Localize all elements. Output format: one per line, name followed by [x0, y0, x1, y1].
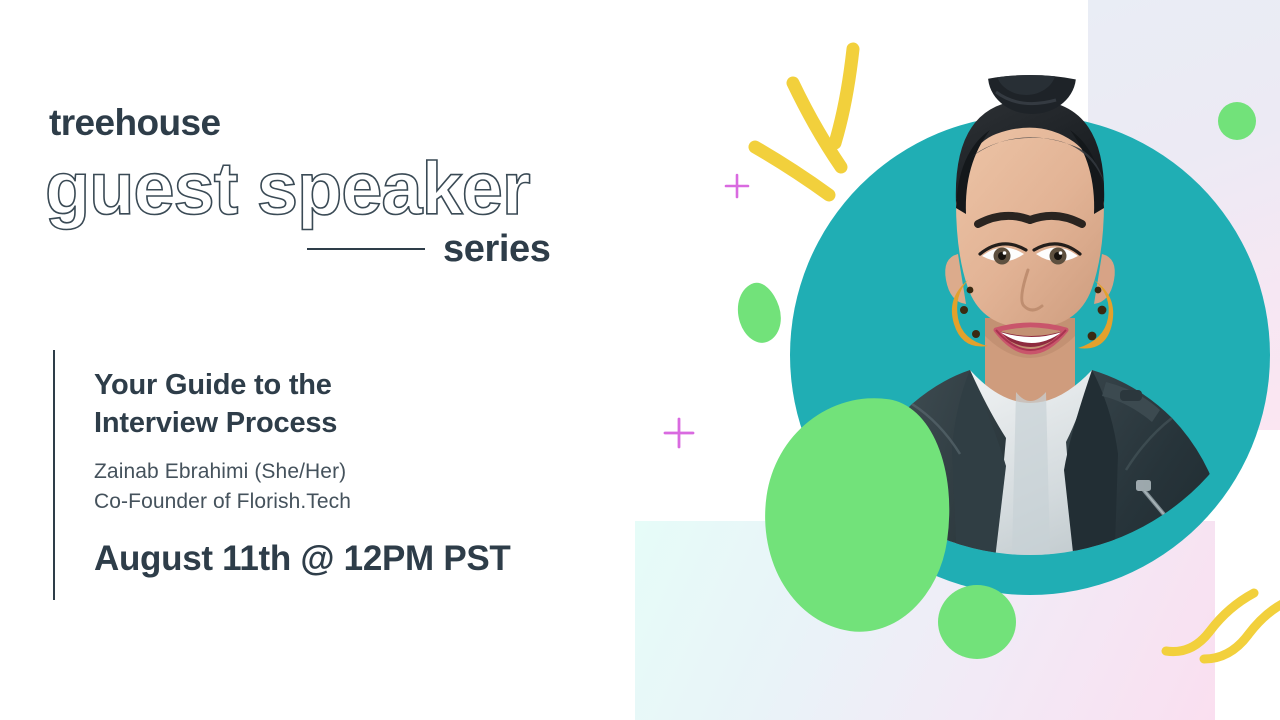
event-datetime: August 11th @ 12PM PST [94, 541, 511, 576]
series-label: series [443, 230, 550, 268]
green-blob-small [730, 278, 788, 348]
speaker-role: Co-Founder of Florish.Tech [94, 487, 511, 517]
green-circle-top-right [1218, 102, 1256, 140]
plus-mark-icon [663, 417, 695, 449]
yellow-ray-strokes [745, 35, 885, 210]
treehouse-wordmark: treehouse [49, 104, 669, 141]
talk-title: Your Guide to the Interview Process [94, 366, 511, 443]
series-row: series [49, 230, 669, 268]
brand-title-block: treehouse guest speaker series [49, 104, 669, 268]
yellow-squiggle-strokes [1160, 575, 1280, 665]
speaker-name: Zainab Ebrahimi (She/Her) [94, 457, 511, 487]
talk-details-block: Your Guide to the Interview Process Zain… [53, 350, 511, 600]
green-blob-bottom [938, 585, 1016, 659]
plus-mark-icon [724, 173, 750, 199]
series-divider-rule [307, 248, 425, 250]
promo-graphic: treehouse guest speaker series Your Guid… [0, 0, 1280, 720]
guest-speaker-headline: guest speaker [45, 151, 669, 226]
